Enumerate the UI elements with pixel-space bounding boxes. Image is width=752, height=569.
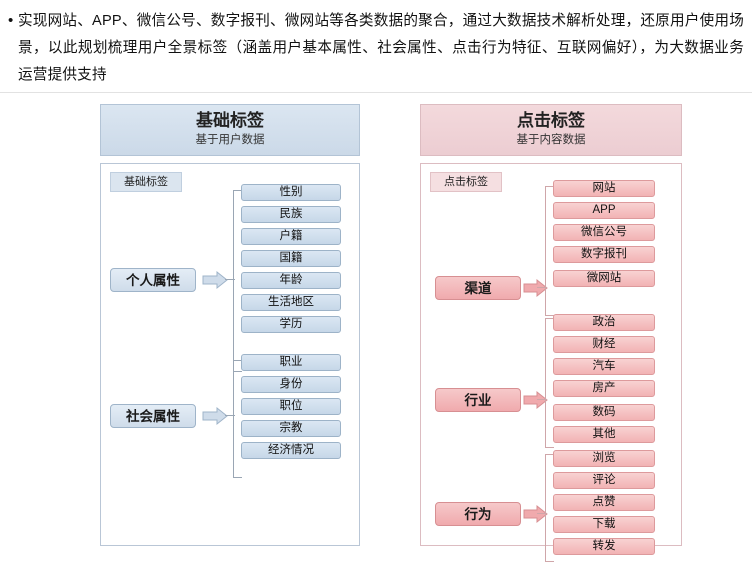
connector-social xyxy=(225,415,235,416)
arrow-social-icon xyxy=(201,406,229,426)
item-chip[interactable]: APP xyxy=(553,202,655,219)
item-chip[interactable]: 下载 xyxy=(553,516,655,533)
item-chip[interactable]: 职位 xyxy=(241,398,341,415)
connector-channel xyxy=(537,287,547,288)
item-chip[interactable]: 点赞 xyxy=(553,494,655,511)
item-chip[interactable]: 生活地区 xyxy=(241,294,341,311)
category-behavior-label: 行为 xyxy=(465,507,492,522)
bullet-icon: • xyxy=(8,8,18,34)
left-panel-body: 基础标签 个人属性 性别 民族 户籍 国籍 年龄 生活地区 学历 社会属性 职业… xyxy=(100,163,360,546)
item-chip[interactable]: 微网站 xyxy=(553,270,655,287)
item-chip[interactable]: 其他 xyxy=(553,426,655,443)
item-chip[interactable]: 微信公号 xyxy=(553,224,655,241)
right-panel-subtitle: 基于内容数据 xyxy=(421,133,681,148)
item-chip[interactable]: 房产 xyxy=(553,380,655,397)
category-social-attributes-label: 社会属性 xyxy=(126,409,180,424)
item-chip[interactable]: 汽车 xyxy=(553,358,655,375)
category-social-attributes[interactable]: 社会属性 xyxy=(110,404,196,428)
arrow-personal-icon xyxy=(201,270,229,290)
item-chip[interactable]: 浏览 xyxy=(553,450,655,467)
category-channel[interactable]: 渠道 xyxy=(435,276,521,300)
item-chip[interactable]: 户籍 xyxy=(241,228,341,245)
category-personal-attributes[interactable]: 个人属性 xyxy=(110,268,196,292)
item-chip[interactable]: 政治 xyxy=(553,314,655,331)
connector-industry xyxy=(537,399,547,400)
item-chip[interactable]: 国籍 xyxy=(241,250,341,267)
item-chip[interactable]: 民族 xyxy=(241,206,341,223)
left-group-tag: 基础标签 xyxy=(110,172,182,192)
right-panel-header: 点击标签 基于内容数据 xyxy=(420,104,682,156)
intro-paragraph: • 实现网站、APP、微信公号、数字报刊、微网站等各类数据的聚合，通过大数据技术… xyxy=(8,8,744,89)
left-panel: 基础标签 基于用户数据 基础标签 个人属性 性别 民族 户籍 国籍 年龄 生活地… xyxy=(100,104,360,546)
left-panel-header: 基础标签 基于用户数据 xyxy=(100,104,360,156)
category-industry-label: 行业 xyxy=(465,393,492,408)
category-industry[interactable]: 行业 xyxy=(435,388,521,412)
item-chip[interactable]: 学历 xyxy=(241,316,341,333)
category-personal-attributes-label: 个人属性 xyxy=(126,273,180,288)
item-chip[interactable]: 身份 xyxy=(241,376,341,393)
right-panel-body: 点击标签 渠道 网站 APP 微信公号 数字报刊 微网站 行业 政治 财经 汽车… xyxy=(420,163,682,546)
right-panel-title: 点击标签 xyxy=(421,111,681,131)
connector-behavior xyxy=(537,513,547,514)
intro-text: 实现网站、APP、微信公号、数字报刊、微网站等各类数据的聚合，通过大数据技术解析… xyxy=(18,8,744,89)
item-chip[interactable]: 经济情况 xyxy=(241,442,341,459)
left-panel-subtitle: 基于用户数据 xyxy=(101,133,359,148)
category-behavior[interactable]: 行为 xyxy=(435,502,521,526)
connector-personal xyxy=(225,279,235,280)
right-panel: 点击标签 基于内容数据 点击标签 渠道 网站 APP 微信公号 数字报刊 微网站… xyxy=(420,104,682,546)
right-group-tag: 点击标签 xyxy=(430,172,502,192)
item-chip[interactable]: 性别 xyxy=(241,184,341,201)
category-channel-label: 渠道 xyxy=(465,281,492,296)
left-panel-title: 基础标签 xyxy=(101,111,359,131)
item-chip[interactable]: 年龄 xyxy=(241,272,341,289)
item-chip[interactable]: 转发 xyxy=(553,538,655,555)
item-chip[interactable]: 宗教 xyxy=(241,420,341,437)
item-chip[interactable]: 数字报刊 xyxy=(553,246,655,263)
item-chip[interactable]: 财经 xyxy=(553,336,655,353)
header-divider xyxy=(0,92,752,93)
item-chip[interactable]: 数码 xyxy=(553,404,655,421)
item-chip[interactable]: 评论 xyxy=(553,472,655,489)
item-chip[interactable]: 职业 xyxy=(241,354,341,371)
item-chip[interactable]: 网站 xyxy=(553,180,655,197)
